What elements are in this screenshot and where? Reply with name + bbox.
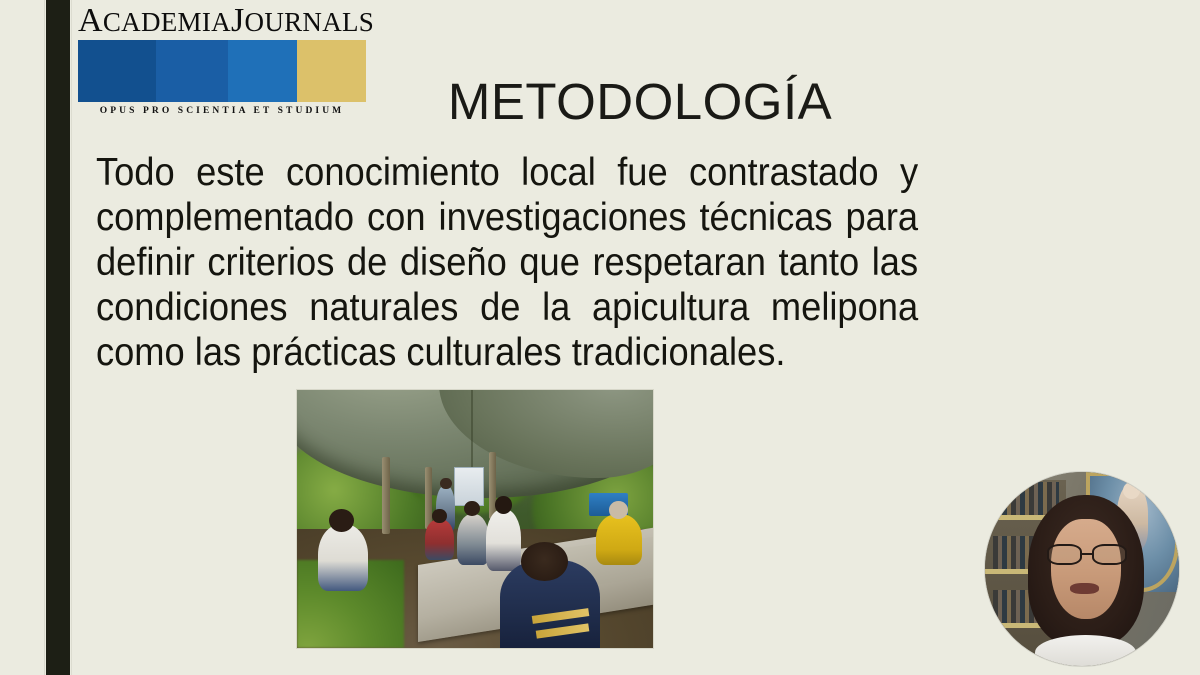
- presentation-slide: ACADEMIAJOURNALS OPUS PRO SCIENTIA ET ST…: [0, 0, 1200, 675]
- logo-bar-band-2: [156, 40, 228, 102]
- photo-person-seated-left: [318, 524, 368, 591]
- left-divider-hairline: [44, 0, 45, 675]
- logo-bar-band-1: [78, 40, 156, 102]
- photo-person-foreground-head: [521, 542, 567, 581]
- logo-wordmark: ACADEMIAJOURNALS: [78, 6, 366, 37]
- photo-flipchart: [454, 467, 484, 505]
- logo-bar-band-4: [297, 40, 366, 102]
- photo-person-facilitator-head: [440, 478, 451, 490]
- logo-color-bar: [78, 40, 366, 102]
- photo-person-yellow-shirt-head: [609, 501, 629, 519]
- photo-person-seated-left-head: [329, 509, 354, 532]
- photo-person-seated-2: [486, 509, 522, 571]
- fieldwork-workshop-photo: [297, 390, 653, 648]
- academia-journals-logo: ACADEMIAJOURNALS OPUS PRO SCIENTIA ET ST…: [78, 6, 366, 116]
- photo-support-post-1: [382, 457, 390, 534]
- photo-person-seated-3-head: [432, 509, 446, 523]
- photo-person-seated-1: [457, 514, 489, 566]
- eyeglasses-bridge: [1082, 553, 1092, 556]
- left-accent-stripe: [46, 0, 70, 675]
- slide-title: METODOLOGÍA: [360, 74, 920, 130]
- logo-wordmark-a: A: [78, 2, 103, 39]
- logo-bar-band-3: [228, 40, 297, 102]
- logo-wordmark-j: J: [231, 2, 245, 39]
- left-divider-hairline-2: [71, 0, 72, 675]
- eyeglasses-icon: [1047, 544, 1127, 565]
- eyeglasses-lens-right: [1092, 544, 1127, 565]
- slide-body-text: Todo este conocimiento local fue contras…: [96, 150, 918, 375]
- photo-support-post-2: [425, 467, 432, 529]
- logo-wordmark-cademia: CADEMIA: [103, 7, 231, 37]
- photo-person-seated-2-head: [495, 496, 513, 514]
- photo-person-yellow-shirt: [596, 514, 642, 566]
- logo-tagline: OPUS PRO SCIENTIA ET STUDIUM: [78, 106, 366, 116]
- presenter-webcam[interactable]: [985, 472, 1179, 666]
- eyeglasses-lens-left: [1047, 544, 1082, 565]
- logo-wordmark-ournals: OURNALS: [245, 7, 375, 37]
- webcam-presenter-mouth: [1070, 583, 1099, 595]
- photo-person-seated-3: [425, 519, 453, 560]
- webcam-presenter-shirt: [1035, 635, 1136, 666]
- photo-tarp-seam: [471, 390, 473, 467]
- webcam-presenter-face: [1051, 519, 1121, 620]
